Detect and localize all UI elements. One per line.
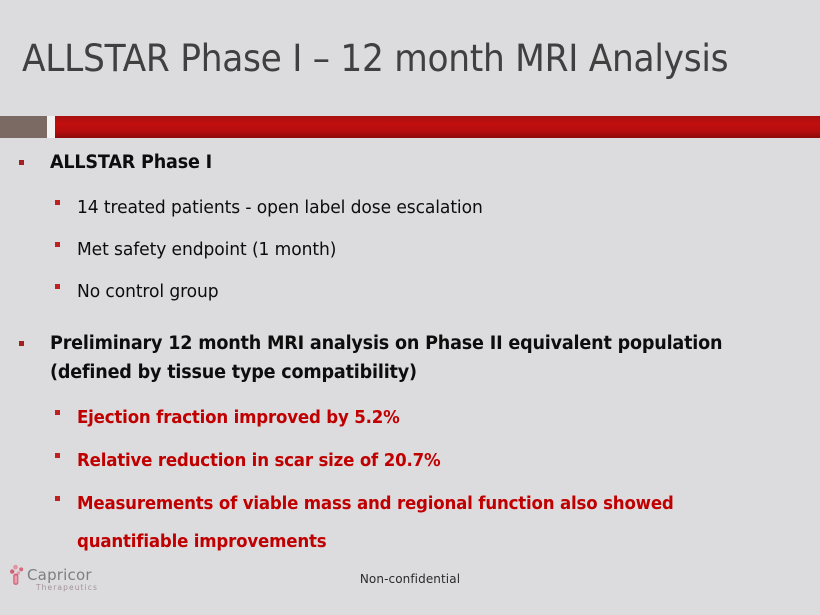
bullet-level2-text: 14 treated patients - open label dose es… <box>77 189 783 226</box>
bullet-marker-icon <box>55 453 60 458</box>
bullet-marker-icon <box>55 496 60 501</box>
bullet-marker-icon <box>55 284 60 289</box>
divider-gap <box>47 116 55 138</box>
title-divider <box>0 116 820 138</box>
divider-accent-block <box>0 116 47 138</box>
bullet-level2-highlight: Relative reduction in scar size of 20.7% <box>0 442 820 480</box>
bullet-level2-text: Relative reduction in scar size of 20.7% <box>77 442 783 480</box>
bullet-level2: Met safety endpoint (1 month) <box>0 231 820 268</box>
bullet-level2-text: Met safety endpoint (1 month) <box>77 231 783 268</box>
spacer <box>0 315 820 329</box>
bullet-marker-icon <box>55 410 60 415</box>
divider-red-bar <box>55 116 820 138</box>
bullet-level1: ALLSTAR Phase I <box>0 148 820 177</box>
bullet-level1: Preliminary 12 month MRI analysis on Pha… <box>0 329 820 387</box>
bullet-level2: 14 treated patients - open label dose es… <box>0 189 820 226</box>
bullet-level2-highlight: Ejection fraction improved by 5.2% <box>0 399 820 437</box>
slide-body: ALLSTAR Phase I 14 treated patients - op… <box>0 148 820 566</box>
logo-wordmark: Capricor <box>27 566 92 584</box>
logo-tagline: Therapeutics <box>36 583 98 592</box>
bullet-level1-text: ALLSTAR Phase I <box>50 148 782 177</box>
bullet-level2-highlight: Measurements of viable mass and regional… <box>0 485 820 561</box>
bullet-level2: No control group <box>0 273 820 310</box>
bullet-level2-text: No control group <box>77 273 783 310</box>
bullet-marker-icon <box>19 341 24 346</box>
bullet-level1-text: Preliminary 12 month MRI analysis on Pha… <box>50 329 782 387</box>
bullet-level2-text: Measurements of viable mass and regional… <box>77 485 783 561</box>
molecule-icon <box>8 564 28 588</box>
capricor-logo: Capricor Therapeutics <box>8 564 158 604</box>
bullet-level2-text: Ejection fraction improved by 5.2% <box>77 399 783 437</box>
page-title: ALLSTAR Phase I – 12 month MRI Analysis <box>22 38 757 81</box>
bullet-marker-icon <box>55 242 60 247</box>
bullet-marker-icon <box>19 160 24 165</box>
bullet-marker-icon <box>55 200 60 205</box>
